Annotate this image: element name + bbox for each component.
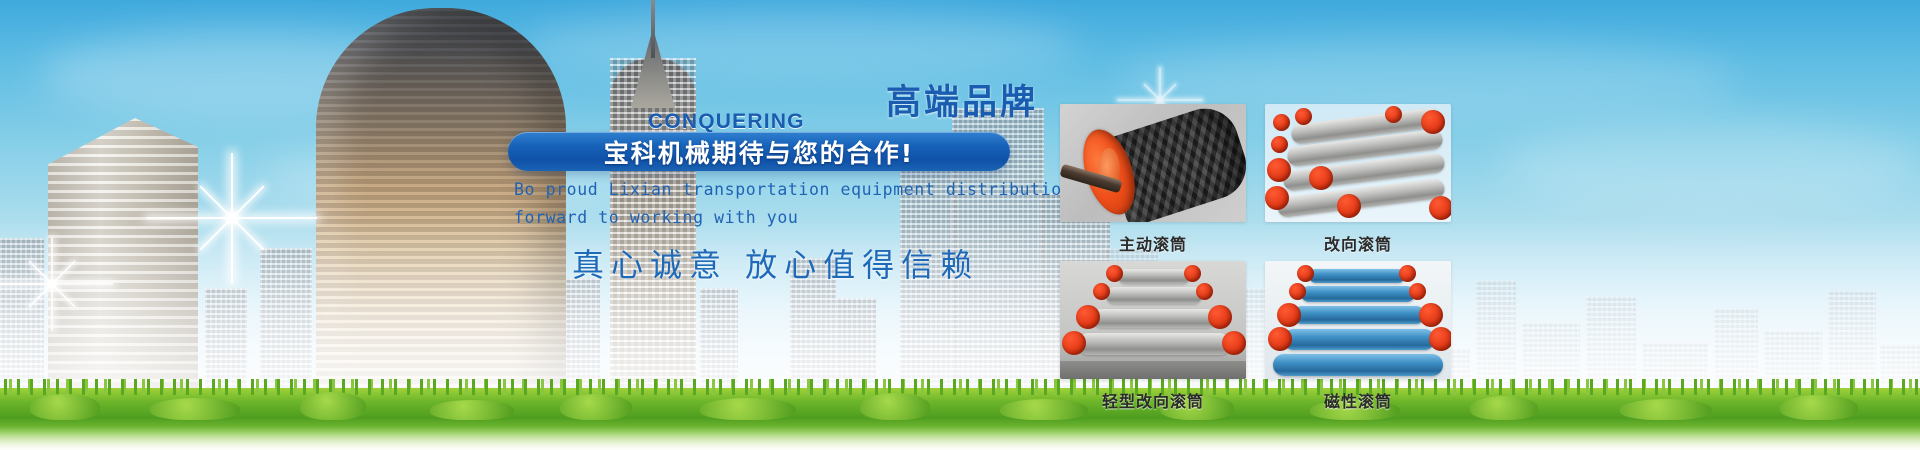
- product-grid: 主动滚筒 改向滚筒: [1060, 104, 1520, 394]
- bend-pulley-photo: [1265, 104, 1451, 222]
- magnetic-pulley-photo: [1265, 261, 1451, 379]
- eyebrow-text: CONQUERING: [648, 110, 805, 134]
- brand-tagline: 高端品牌: [886, 74, 1038, 125]
- product-label: 改向滚筒: [1265, 231, 1451, 255]
- headline-text: 宝科机械期待与您的合作!: [508, 132, 1010, 171]
- product-card[interactable]: 主动滚筒: [1060, 104, 1246, 255]
- light-bend-pulley-photo: [1060, 261, 1246, 379]
- slogan-text: 真心诚意 放心值得信赖: [572, 240, 979, 286]
- subtitle-line-1: Bo proud Lixian transportation equipment…: [514, 180, 1125, 199]
- headline-block: CONQUERING 高端品牌 宝科机械期待与您的合作! Bo proud Li…: [0, 0, 1060, 450]
- product-label: 磁性滚筒: [1265, 388, 1451, 412]
- headline-pill: 宝科机械期待与您的合作!: [508, 132, 1010, 171]
- product-card[interactable]: 磁性滚筒: [1265, 261, 1451, 412]
- product-card[interactable]: 改向滚筒: [1265, 104, 1451, 255]
- product-card[interactable]: 轻型改向滚筒: [1060, 261, 1246, 412]
- product-label: 轻型改向滚筒: [1060, 388, 1246, 412]
- drive-pulley-photo: [1060, 104, 1246, 222]
- product-label: 主动滚筒: [1060, 231, 1246, 255]
- cloud-decoration: [1500, 120, 1920, 210]
- subtitle-line-2: forward to working with you: [514, 208, 798, 227]
- promo-banner: CONQUERING 高端品牌 宝科机械期待与您的合作! Bo proud Li…: [0, 0, 1920, 450]
